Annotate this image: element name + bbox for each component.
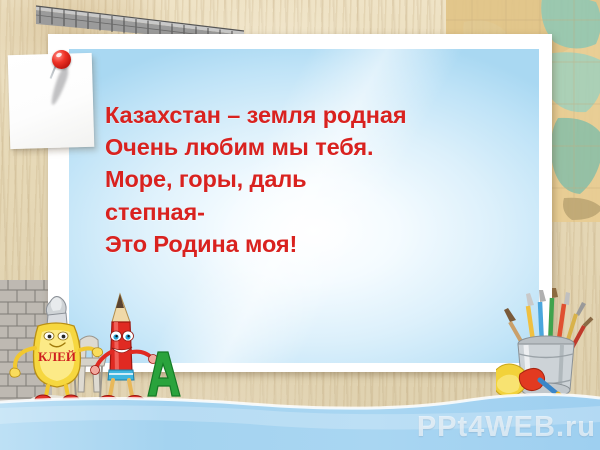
slide: Казахстан – земля родная Очень любим мы …	[0, 0, 600, 450]
poem-line-3: Море, горы, даль степная-	[105, 163, 355, 227]
watermark: PPt4WEB.ru	[417, 411, 596, 444]
poem-line-4: Это Родина моя!	[105, 228, 525, 260]
glue-label: КЛЕЙ	[38, 349, 76, 364]
poem-block: Казахстан – земля родная Очень любим мы …	[105, 99, 525, 260]
poem-line-1: Казахстан – земля родная	[105, 99, 525, 131]
poem-line-2: Очень любим мы тебя.	[105, 131, 525, 163]
